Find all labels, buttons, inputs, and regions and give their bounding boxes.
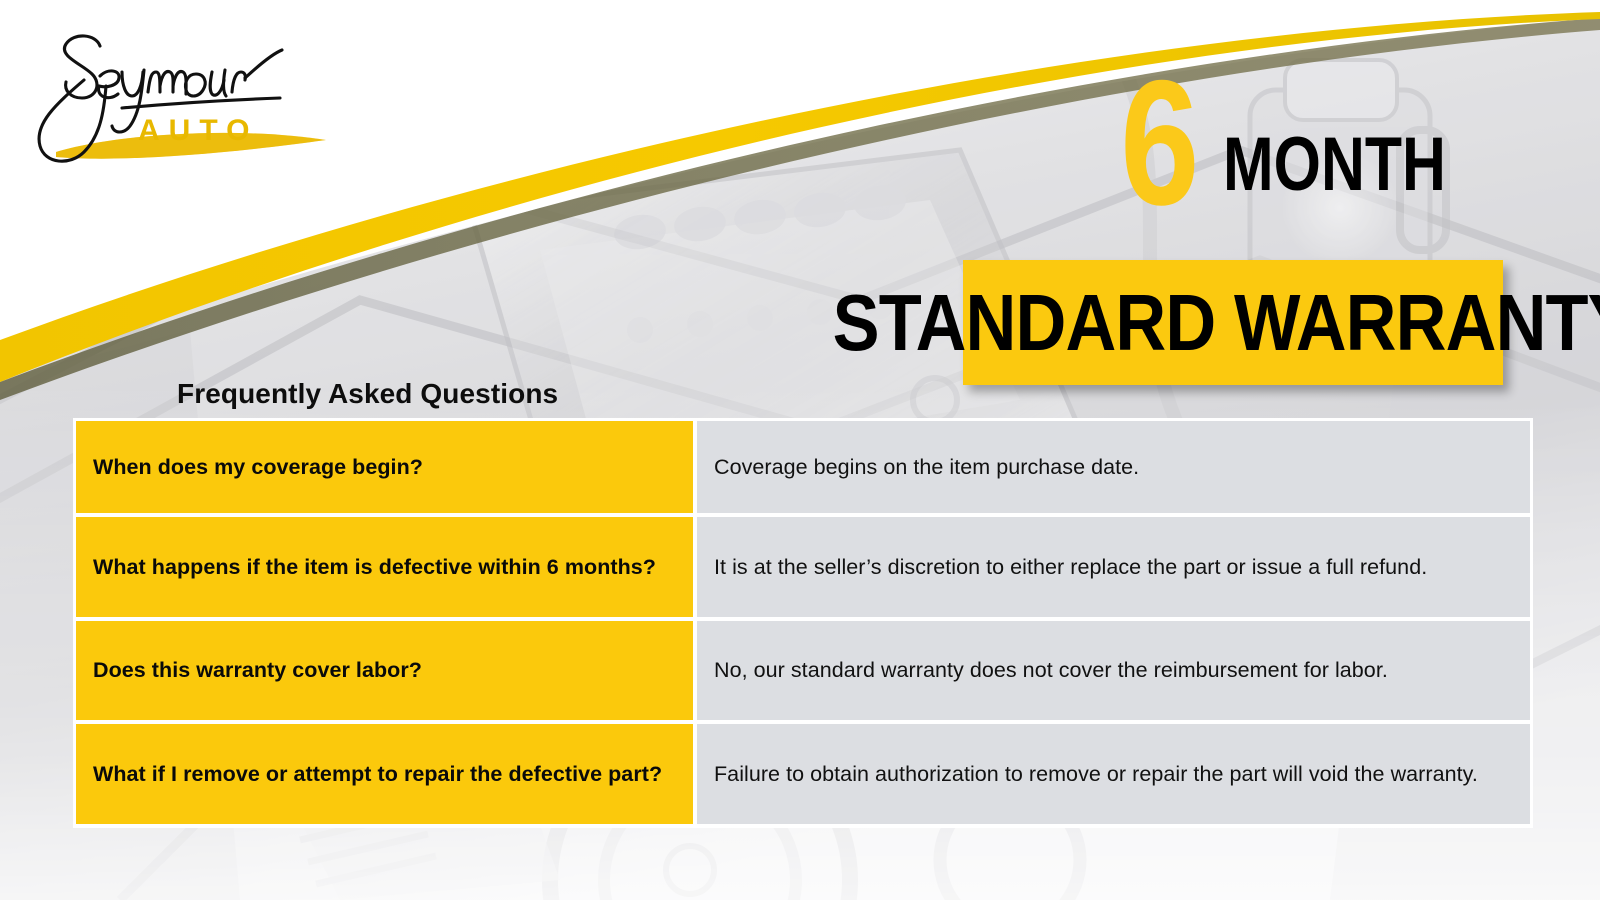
warranty-slide: AUTO 6 MONTH STANDARD WARRANTY Frequentl… xyxy=(0,0,1600,900)
faq-question-text: What if I remove or attempt to repair th… xyxy=(93,759,662,790)
table-row: Does this warranty cover labor? No, our … xyxy=(76,621,1530,720)
standard-warranty-banner: STANDARD WARRANTY xyxy=(963,260,1503,385)
warranty-term: 6 MONTH xyxy=(1101,74,1502,213)
faq-question-cell: What if I remove or attempt to repair th… xyxy=(76,724,693,824)
faq-answer-text: It is at the seller’s discretion to eith… xyxy=(714,552,1513,583)
faq-answer-cell: Coverage begins on the item purchase dat… xyxy=(697,421,1530,513)
faq-heading: Frequently Asked Questions xyxy=(177,378,558,410)
table-row: What if I remove or attempt to repair th… xyxy=(76,724,1530,824)
term-number: 6 xyxy=(1121,74,1198,213)
standard-warranty-title: STANDARD WARRANTY xyxy=(832,283,1600,363)
faq-question-cell: Does this warranty cover labor? xyxy=(76,621,693,720)
faq-answer-text: Failure to obtain authorization to remov… xyxy=(714,759,1513,790)
faq-question-text: When does my coverage begin? xyxy=(93,452,423,483)
faq-question-text: Does this warranty cover labor? xyxy=(93,655,422,686)
faq-answer-text: Coverage begins on the item purchase dat… xyxy=(714,452,1513,483)
faq-answer-cell: No, our standard warranty does not cover… xyxy=(697,621,1530,720)
faq-answer-cell: It is at the seller’s discretion to eith… xyxy=(697,517,1530,617)
faq-question-text: What happens if the item is defective wi… xyxy=(93,552,656,583)
term-unit: MONTH xyxy=(1223,129,1446,213)
faq-question-cell: What happens if the item is defective wi… xyxy=(76,517,693,617)
faq-table: When does my coverage begin? Coverage be… xyxy=(73,418,1533,828)
faq-answer-cell: Failure to obtain authorization to remov… xyxy=(697,724,1530,824)
table-row: What happens if the item is defective wi… xyxy=(76,517,1530,617)
faq-answer-text: No, our standard warranty does not cover… xyxy=(714,655,1513,686)
svg-text:AUTO: AUTO xyxy=(138,114,258,147)
table-row: When does my coverage begin? Coverage be… xyxy=(76,421,1530,513)
seymour-auto-logo: AUTO xyxy=(26,20,336,180)
faq-question-cell: When does my coverage begin? xyxy=(76,421,693,513)
